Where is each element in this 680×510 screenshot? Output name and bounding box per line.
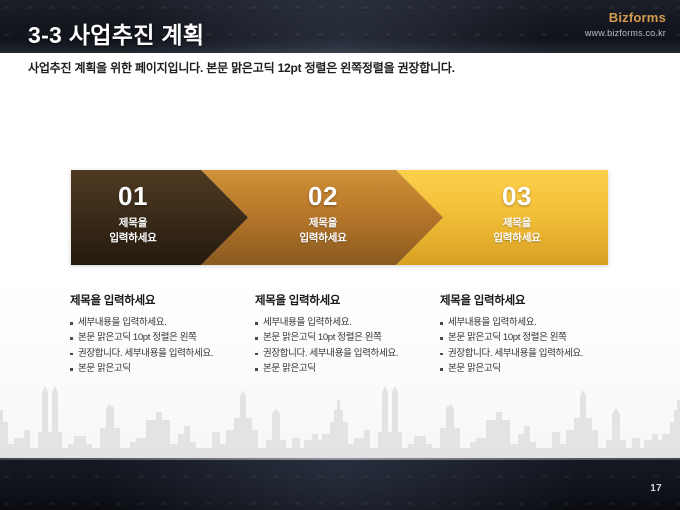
bullet-item: 본문 맑은고딕 10pt 정렬은 왼쪽	[70, 330, 250, 345]
content-column-3-bullets: 세부내용을 입력하세요. 본문 맑은고딕 10pt 정렬은 왼쪽 권장합니다. …	[440, 315, 620, 377]
brand-name: Bizforms	[585, 11, 666, 26]
content-column-1-title: 제목을 입력하세요	[70, 292, 250, 308]
bullet-item: 본문 맑은고딕 10pt 정렬은 왼쪽	[255, 330, 435, 345]
footer-top-highlight	[0, 458, 680, 460]
slide-footer-bar: 17	[0, 458, 680, 510]
bullet-item: 본문 맑은고딕 10pt 정렬은 왼쪽	[440, 330, 620, 345]
brand-url: www.bizforms.co.kr	[585, 28, 666, 38]
bullet-item: 권장합니다. 세부내용을 입력하세요.	[255, 346, 435, 361]
content-column-1: 제목을 입력하세요 세부내용을 입력하세요. 본문 맑은고딕 10pt 정렬은 …	[70, 292, 250, 377]
slide-header-bar: 3-3 사업추진 계획 Bizforms www.bizforms.co.kr	[0, 0, 680, 53]
page-subtitle: 사업추진 계획을 위한 페이지입니다. 본문 맑은고딕 12pt 정렬은 왼쪽정…	[28, 59, 455, 76]
content-column-1-bullets: 세부내용을 입력하세요. 본문 맑은고딕 10pt 정렬은 왼쪽 권장합니다. …	[70, 315, 250, 377]
page-number: 17	[650, 483, 662, 494]
content-column-3: 제목을 입력하세요 세부내용을 입력하세요. 본문 맑은고딕 10pt 정렬은 …	[440, 292, 620, 377]
process-chevron-diagram	[71, 170, 608, 265]
content-column-2-title: 제목을 입력하세요	[255, 292, 435, 308]
bullet-item: 본문 맑은고딕	[255, 361, 435, 376]
content-column-3-title: 제목을 입력하세요	[440, 292, 620, 308]
bullet-item: 권장합니다. 세부내용을 입력하세요.	[70, 346, 250, 361]
slide-canvas: 3-3 사업추진 계획 Bizforms www.bizforms.co.kr …	[0, 0, 680, 510]
page-title: 3-3 사업추진 계획	[28, 16, 204, 50]
content-column-2-bullets: 세부내용을 입력하세요. 본문 맑은고딕 10pt 정렬은 왼쪽 권장합니다. …	[255, 315, 435, 377]
footer-dot-pattern	[0, 458, 680, 510]
bullet-item: 권장합니다. 세부내용을 입력하세요.	[440, 346, 620, 361]
bullet-item: 세부내용을 입력하세요.	[70, 315, 250, 330]
content-column-2: 제목을 입력하세요 세부내용을 입력하세요. 본문 맑은고딕 10pt 정렬은 …	[255, 292, 435, 377]
bullet-item: 본문 맑은고딕	[440, 361, 620, 376]
bullet-item: 세부내용을 입력하세요.	[255, 315, 435, 330]
brand-block: Bizforms www.bizforms.co.kr	[585, 11, 666, 38]
bullet-item: 본문 맑은고딕	[70, 361, 250, 376]
bullet-item: 세부내용을 입력하세요.	[440, 315, 620, 330]
